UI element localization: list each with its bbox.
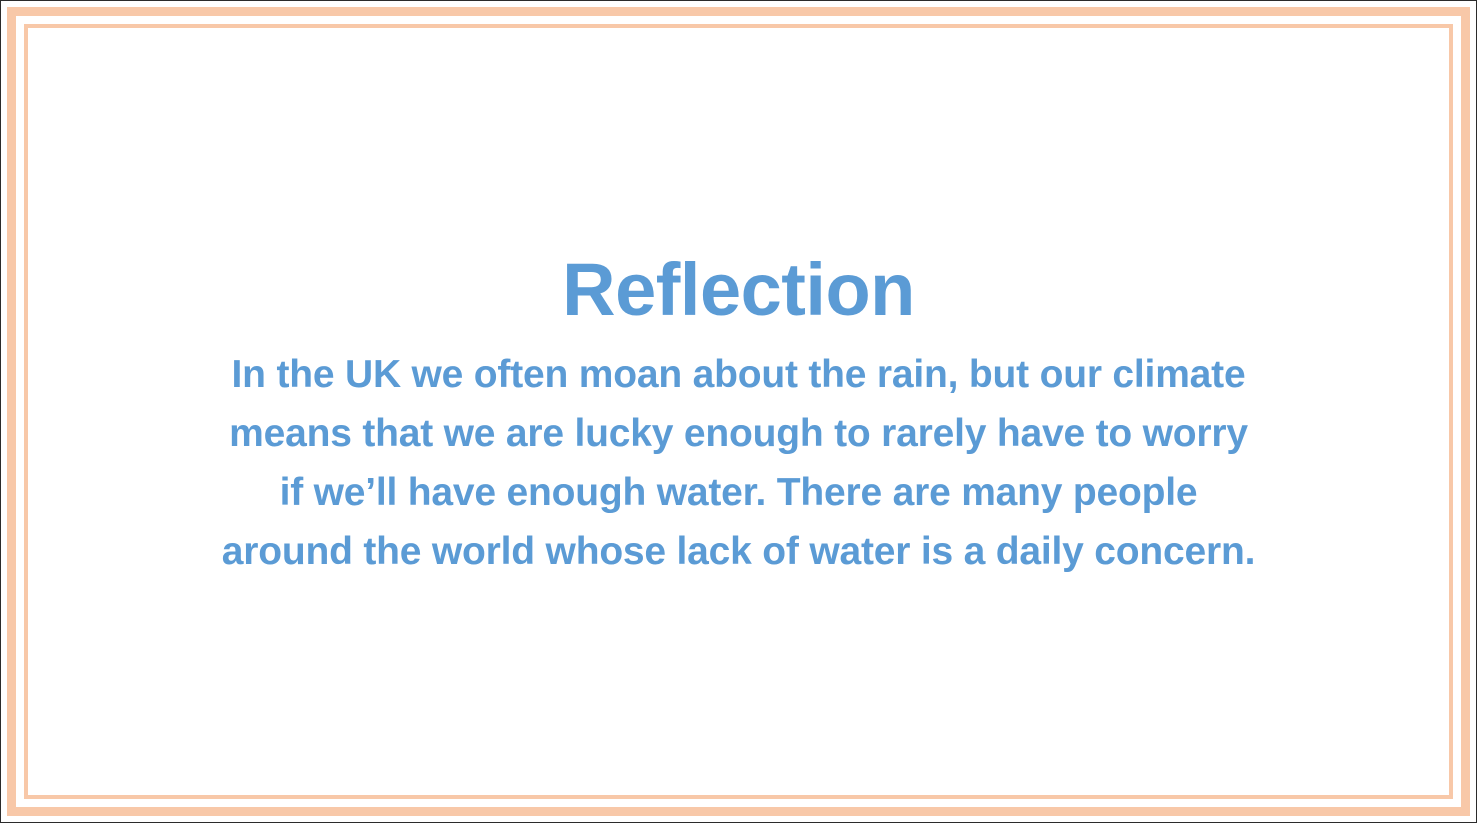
- slide-canvas: Reflection In the UK we often moan about…: [0, 0, 1477, 823]
- slide-body-text: In the UK we often moan about the rain, …: [159, 345, 1319, 581]
- body-line-1: In the UK we often moan about the rain, …: [159, 345, 1319, 404]
- slide-content-area: Reflection In the UK we often moan about…: [28, 28, 1449, 795]
- body-line-2: means that we are lucky enough to rarely…: [159, 404, 1319, 463]
- body-line-3: if we’ll have enough water. There are ma…: [159, 463, 1319, 522]
- slide-title: Reflection: [28, 253, 1449, 327]
- body-line-4: around the world whose lack of water is …: [159, 522, 1319, 581]
